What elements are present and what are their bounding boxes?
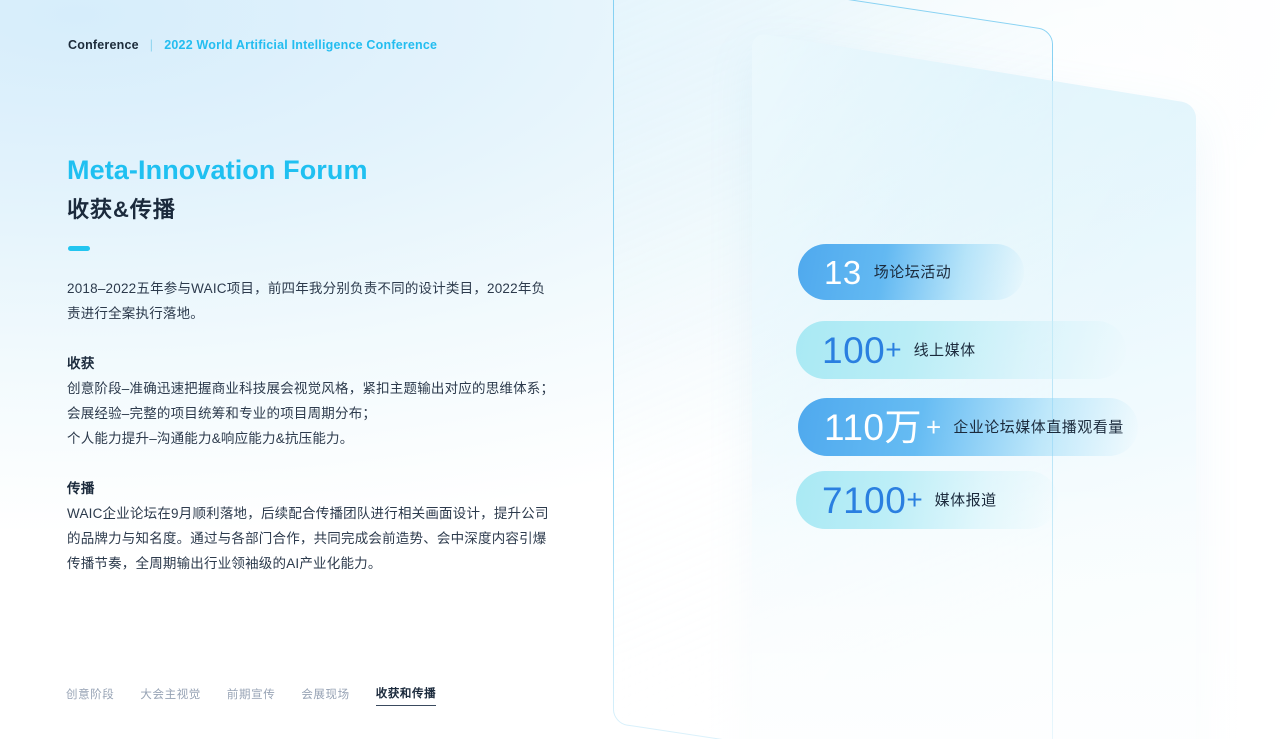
stat-number: 13 [824,256,862,289]
nav-item-1[interactable]: 大会主视觉 [140,686,201,706]
nav-item-2[interactable]: 前期宣传 [227,686,275,706]
stat-label: 企业论坛媒体直播观看量 [953,420,1124,435]
stat-plus: + [906,486,922,514]
stat-plus: + [885,336,901,364]
nav-item-0[interactable]: 创意阶段 [66,686,114,706]
stat-pill-online-media: 100 + 线上媒体 [796,321,976,379]
stat-number: 7100 [822,482,906,519]
page-title-english: Meta-Innovation Forum [67,155,368,186]
body-section: 传播WAIC企业论坛在9月顺利落地，后续配合传播团队进行相关画面设计，提升公司的… [67,477,557,576]
section-line: 会展经验–完整的项目统筹和专业的项目周期分布； [67,401,557,426]
body-content: 2018–2022五年参与WAIC项目，前四年我分别负责不同的设计类目，2022… [67,276,557,602]
section-heading: 收获 [67,352,557,372]
slide-header: Conference | 2022 World Artificial Intel… [68,38,437,52]
stat-pill-forum-sessions: 13 场论坛活动 [798,244,951,300]
stat-number: 100 [822,332,885,369]
slide-canvas: Conference | 2022 World Artificial Intel… [0,0,1280,739]
stat-pill-livestream-views: 110万 + 企业论坛媒体直播观看量 [798,398,1124,456]
bottom-navigation[interactable]: 创意阶段大会主视觉前期宣传会展现场收获和传播 [66,685,436,706]
title-divider-bar [68,246,90,251]
body-section: 收获创意阶段–准确迅速把握商业科技展会视觉风格，紧扣主题输出对应的思维体系；会展… [67,352,557,451]
intro-paragraph: 2018–2022五年参与WAIC项目，前四年我分别负责不同的设计类目，2022… [67,276,557,326]
section-line: 个人能力提升–沟通能力&响应能力&抗压能力。 [67,426,557,451]
background-highlight-right [580,0,1280,460]
glass-panel-filled [752,32,1196,739]
page-title-chinese: 收获&传播 [67,192,176,224]
section-heading: 传播 [67,477,557,497]
body-sections: 收获创意阶段–准确迅速把握商业科技展会视觉风格，紧扣主题输出对应的思维体系；会展… [67,352,557,576]
nav-item-4-active[interactable]: 收获和传播 [376,685,437,706]
header-kicker: Conference [68,38,139,52]
header-conference: 2022 World Artificial Intelligence Confe… [164,38,437,52]
stat-plus: + [926,414,941,440]
stat-label: 媒体报道 [935,493,997,508]
stat-pill-media-reports: 7100 + 媒体报道 [796,471,997,529]
header-separator: | [150,38,153,52]
nav-item-3[interactable]: 会展现场 [301,686,349,706]
section-line: WAIC企业论坛在9月顺利落地，后续配合传播团队进行相关画面设计，提升公司的品牌… [67,501,557,576]
stat-label: 场论坛活动 [874,265,952,280]
stat-number: 110万 [824,409,922,446]
stat-label: 线上媒体 [914,343,976,358]
section-line: 创意阶段–准确迅速把握商业科技展会视觉风格，紧扣主题输出对应的思维体系； [67,376,557,401]
glass-panel-sheen [752,32,1196,739]
